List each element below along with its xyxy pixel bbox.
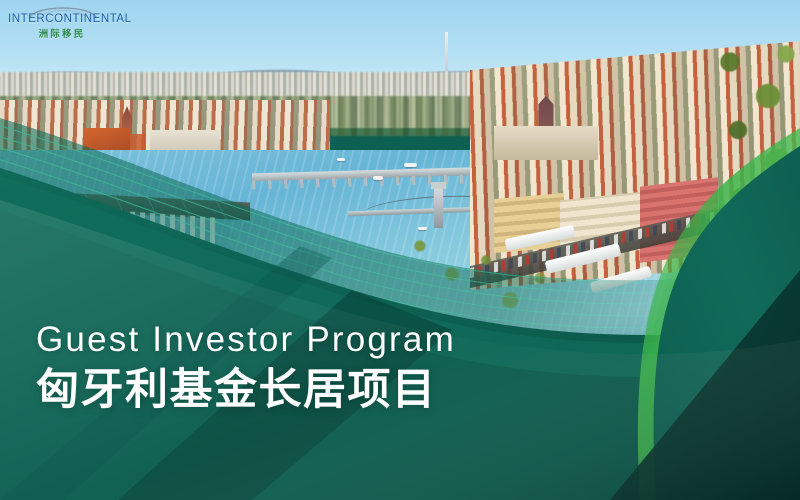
title-chinese: 匈牙利基金长居项目 [36, 364, 456, 416]
parliament-building [494, 126, 598, 160]
background-photo [0, 0, 800, 500]
logo-chinese-name: 洲际移民 [8, 26, 116, 40]
boat [373, 176, 383, 180]
boat [337, 158, 345, 161]
logo-wordmark: INTERCONTINENTAL [8, 13, 116, 26]
brand-logo[interactable]: INTERCONTINENTAL 洲际移民 [8, 4, 116, 40]
title-english: Guest Investor Program [36, 318, 456, 362]
foreground-foliage [690, 22, 800, 292]
headline-block: Guest Investor Program 匈牙利基金长居项目 [36, 318, 456, 416]
boat [404, 163, 417, 167]
promo-banner: INTERCONTINENTAL 洲际移民 Guest Investor Pro… [0, 0, 800, 500]
